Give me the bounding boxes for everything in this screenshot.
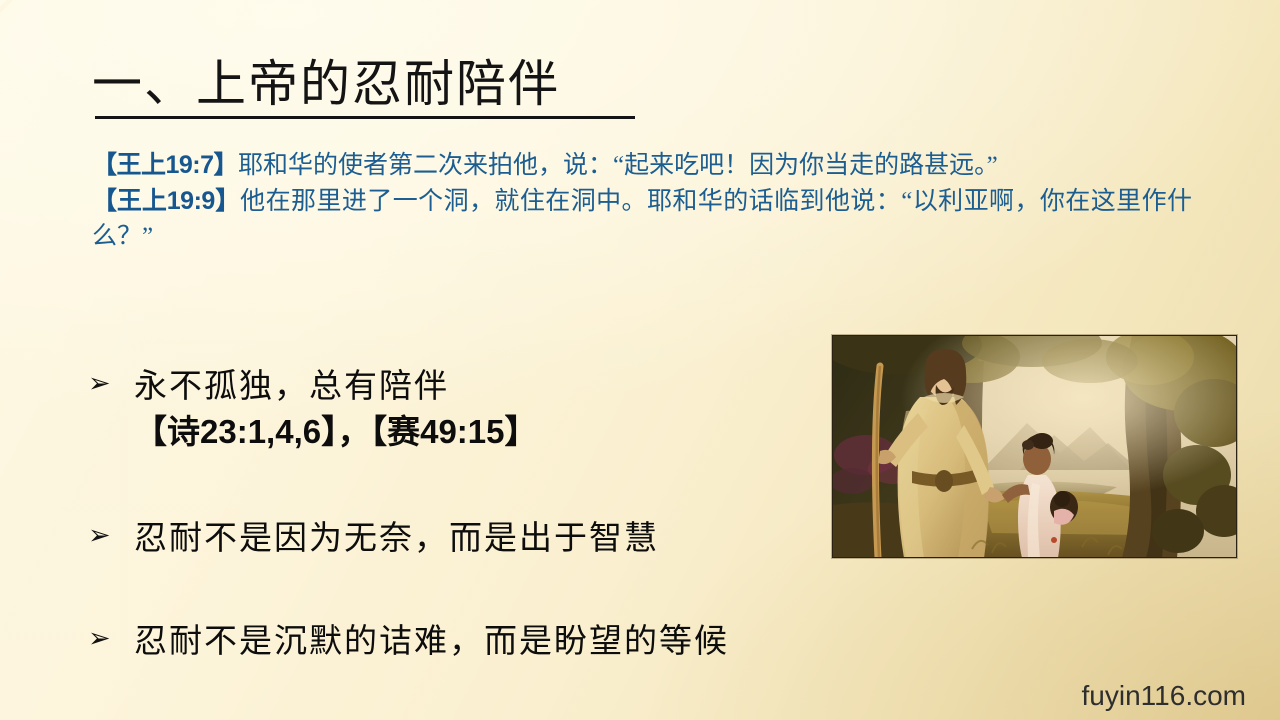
arrow-bullet-icon: ➢ [88,522,111,549]
bullet-text-1: 永不孤独，总有陪伴 [134,368,538,407]
scripture-verse-1: 【王上19:7】耶和华的使者第二次来拍他，说：“起来吃吧！因为你当走的路甚远。” [92,148,1192,184]
scripture-reference-1: 【王上19:7】 [92,151,238,179]
scripture-text-1: 耶和华的使者第二次来拍他，说：“起来吃吧！因为你当走的路甚远。” [238,152,998,179]
arrow-bullet-icon: ➢ [88,625,111,652]
bullet-text-3: 忍耐不是沉默的诘难，而是盼望的等候 [134,623,729,662]
painting-graphic [832,335,1237,558]
scripture-block: 【王上19:7】耶和华的使者第二次来拍他，说：“起来吃吧！因为你当走的路甚远。”… [92,148,1192,255]
bullet-text-2: 忍耐不是因为无奈，而是出于智慧 [134,520,659,559]
slide-title: 一、上帝的忍耐陪伴 [92,58,560,111]
slide-content: 一、上帝的忍耐陪伴 【王上19:7】耶和华的使者第二次来拍他，说：“起来吃吧！因… [0,0,1280,720]
site-watermark: fuyin116.com [1082,680,1246,712]
list-item: ➢ 忍耐不是因为无奈，而是出于智慧 [88,520,659,559]
presentation-slide: 一、上帝的忍耐陪伴 【王上19:7】耶和华的使者第二次来拍他，说：“起来吃吧！因… [0,0,1280,720]
scripture-verse-2: 【王上19:9】他在那里进了一个洞，就住在洞中。耶和华的话临到他说：“以利亚啊，… [92,184,1192,255]
list-item: ➢ 永不孤独，总有陪伴 【诗23:1,4,6】，【赛49:15】 [88,368,538,452]
jesus-with-child-painting [832,335,1237,558]
bullet-reference-1: 【诗23:1,4,6】，【赛49:15】 [134,413,538,452]
scripture-reference-2: 【王上19:9】 [92,187,240,215]
arrow-bullet-icon: ➢ [88,370,111,397]
list-item: ➢ 忍耐不是沉默的诘难，而是盼望的等候 [88,623,729,662]
title-underline [95,116,635,119]
scripture-text-2: 他在那里进了一个洞，就住在洞中。耶和华的话临到他说：“以利亚啊，你在这里作什么？… [92,188,1192,251]
